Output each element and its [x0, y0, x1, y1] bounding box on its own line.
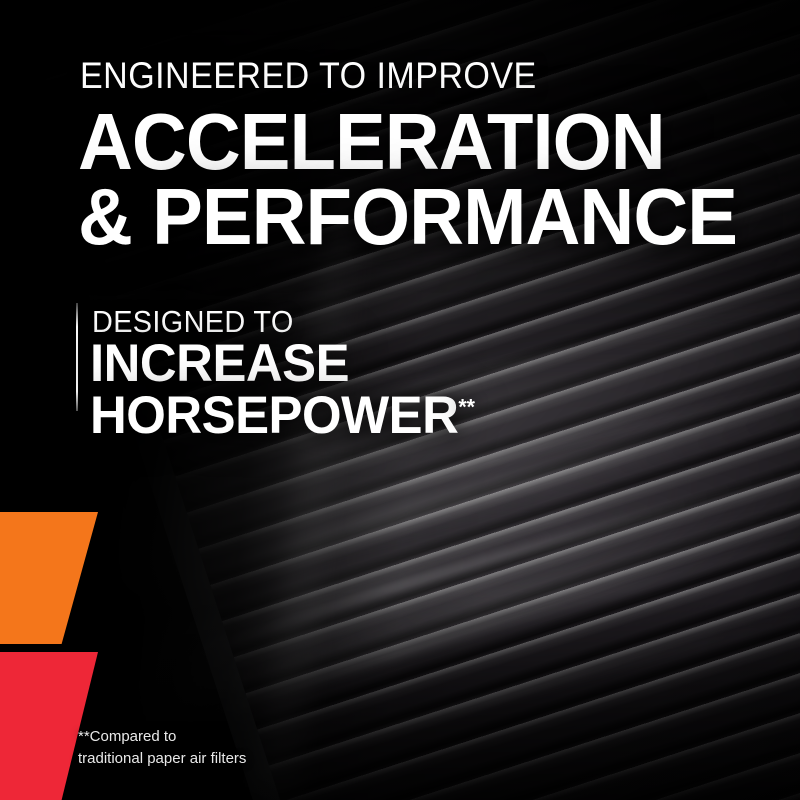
footnote: **Compared to traditional paper air filt…	[78, 726, 246, 770]
headline-line-2: & PERFORMANCE	[78, 179, 737, 254]
sub-headline-accent-rule	[76, 303, 78, 411]
footnote-line-1: **Compared to	[78, 726, 246, 748]
marketing-banner: ENGINEERED TO IMPROVE ACCELERATION & PER…	[0, 0, 800, 800]
headline: ACCELERATION & PERFORMANCE	[78, 104, 737, 254]
sub-eyebrow-text: DESIGNED TO	[92, 306, 294, 337]
footnote-line-2: traditional paper air filters	[78, 748, 246, 770]
sub-headline-line-2: HORSEPOWER**	[90, 390, 475, 442]
eyebrow-text: ENGINEERED TO IMPROVE	[80, 57, 537, 94]
footnote-marker: **	[458, 394, 475, 419]
sub-headline: INCREASE HORSEPOWER**	[90, 338, 475, 442]
sub-headline-line-2-text: HORSEPOWER	[90, 386, 458, 445]
sub-headline-line-1: INCREASE	[90, 334, 349, 393]
